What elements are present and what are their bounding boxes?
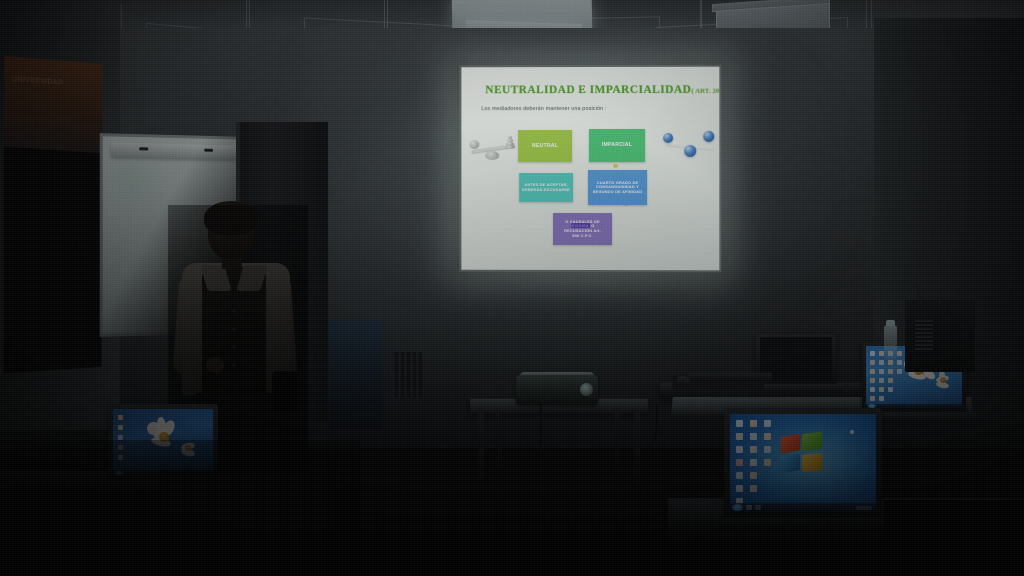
mouse[interactable] [676,376,690,385]
slide-box-cuarto-grado: CUARTO GRADO DE CONSANGUINIDAD Y SEGUNDO… [588,170,647,205]
causales-line-4: 856 C.P.C. [572,234,593,239]
globe-icon [703,131,714,142]
projector-lens [580,383,593,396]
wall-panel-blue [330,320,382,430]
laptop-screen-windows7 [730,414,876,512]
slide-box-imparcial: IMPARCIAL [589,129,645,162]
globe-icon [663,133,673,143]
power-cable [616,404,658,464]
desktop-icons[interactable] [732,416,793,508]
projected-slide: NEUTRALIDAD E IMPARCIALIDAD( ART. 20 ) L… [461,67,719,271]
slide-box-antes-de-aceptar: ANTES DE ACEPTAR, DEBERÁN EXCUSARSE [519,173,573,202]
left-wall-dark-panel [4,147,102,374]
slide-box-causales: O CAUSALES DE EXCUSA O RECUSACIÓN Art. 8… [553,213,612,245]
slide-box-neutral: NEUTRAL [518,130,572,162]
slide-title: NEUTRALIDAD E IMPARCIALIDAD( ART. 20 ) [485,84,699,96]
classroom-scene: UNIVERSIDAD NEUTRALIDAD E IMPARCIALIDAD(… [0,0,1024,576]
water-bottle [884,325,897,359]
projection-screen: NEUTRALIDAD E IMPARCIALIDAD( ART. 20 ) L… [459,65,721,273]
radiator [392,352,422,398]
keyboard[interactable] [688,373,772,382]
cursor [850,430,854,434]
globes-seesaw-graphic [663,129,715,163]
slide-title-article: ( ART. 20 ) [691,88,719,95]
power-cable [540,404,572,514]
globe-icon [684,145,696,157]
balance-seesaw-graphic [469,135,517,163]
slide-subtitle: Los mediadores deberán mantener una posi… [481,106,606,112]
